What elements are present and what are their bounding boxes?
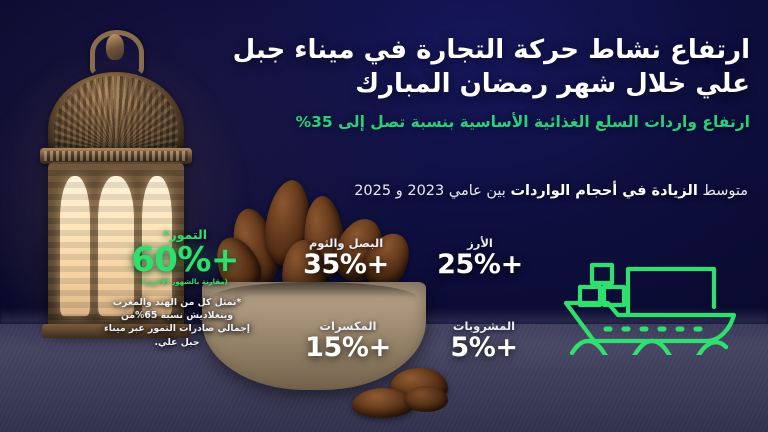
stat-rice-label: الأرز <box>416 237 544 250</box>
ship-hull <box>566 303 734 341</box>
infographic-canvas: ارتفاع نشاط حركة التجارة في ميناء جبل عل… <box>0 0 768 432</box>
lead-suffix: بين عامي 2023 و 2025 <box>354 183 510 199</box>
ship-superstructure <box>628 269 714 315</box>
page-title: ارتفاع نشاط حركة التجارة في ميناء جبل عل… <box>218 34 750 102</box>
stat-nuts: المكسرات +15% <box>284 320 412 362</box>
stat-rice: الأرز +25% <box>416 237 544 279</box>
lead-prefix: متوسط <box>698 183 748 199</box>
stat-beverages-value: +5% <box>420 334 548 362</box>
container-top <box>592 265 612 283</box>
title-line-1: ارتفاع نشاط حركة التجارة في ميناء جبل <box>218 34 750 68</box>
dates-footnote: *تمثل كل من الهند والمغرب وبنغلاديش نسبة… <box>104 296 250 349</box>
cargo-ship-icon <box>556 243 740 355</box>
stat-beverages-label: المشروبات <box>420 320 548 333</box>
stat-nuts-label: المكسرات <box>284 320 412 333</box>
stat-onion-garlic: البصل والثوم +35% <box>282 237 410 279</box>
headline-block: ارتفاع نشاط حركة التجارة في ميناء جبل عل… <box>218 34 750 132</box>
stat-nuts-value: +15% <box>284 334 412 362</box>
lantern-finial <box>106 34 124 60</box>
stat-rice-value: +25% <box>416 251 544 279</box>
title-line-2: علي خلال شهر رمضان المبارك <box>218 68 750 102</box>
stat-onion-garlic-value: +35% <box>282 251 410 279</box>
stat-dates-note: (مقارنة بالشهور الأخرى) <box>118 279 252 287</box>
stat-dates: التمور* +60% (مقارنة بالشهور الأخرى) <box>118 228 252 287</box>
lantern-pane <box>60 176 90 316</box>
water-waves <box>572 341 726 355</box>
lead-emphasis: الزيادة في أحجام الواردات <box>510 183 697 199</box>
page-subtitle: ارتفاع واردات السلع الغذائية الأساسية بن… <box>218 112 750 132</box>
lead-statement: متوسط الزيادة في أحجام الواردات بين عامي… <box>220 182 748 202</box>
stat-onion-garlic-label: البصل والثوم <box>282 237 410 250</box>
dates-bowl-image <box>196 170 432 420</box>
date-fruit <box>404 386 448 412</box>
stat-dates-value: +60% <box>118 243 252 279</box>
stat-beverages: المشروبات +5% <box>420 320 548 362</box>
